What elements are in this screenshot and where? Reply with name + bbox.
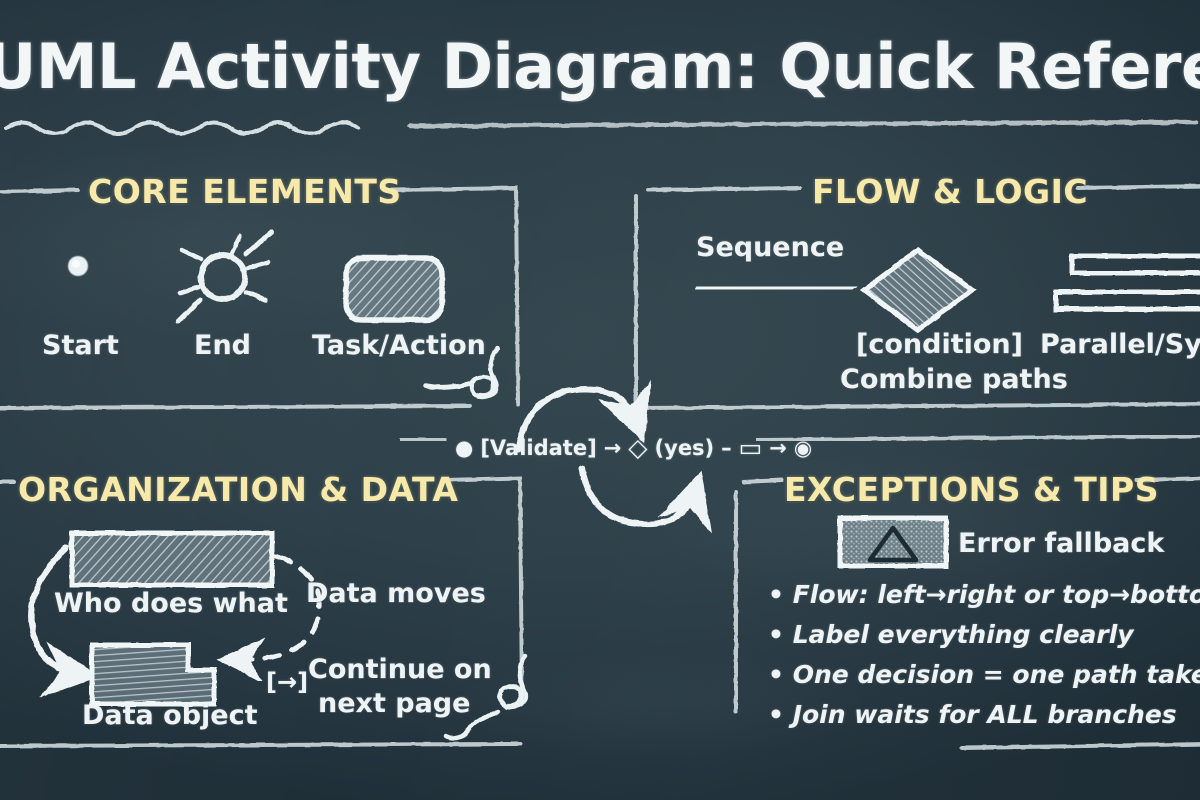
page-title: UML Activity Diagram: Quick Reference Gu… (0, 30, 1200, 103)
tip-text-3: One decision = one path taken (793, 660, 1200, 689)
mini-connector-icon: – (721, 436, 732, 460)
bullet-icon: • (768, 620, 784, 649)
mini-action-icon: ▭ (739, 433, 763, 462)
text-layer: UML Activity Diagram: Quick Reference Gu… (0, 0, 1200, 800)
label-error-fallback: Error fallback (958, 528, 1164, 559)
label-parallel-sync: Parallel/Sync (1040, 329, 1200, 360)
mini-arrow-2-icon: → (769, 436, 787, 460)
mini-guard-label: [Validate] (480, 436, 596, 460)
label-condition: [condition] (856, 329, 1023, 360)
mini-arrow-1-icon: → (604, 436, 622, 460)
label-data-moves: Data moves (306, 578, 486, 609)
mini-decision-icon: ◇ (628, 433, 647, 462)
connector-symbol: [→] (266, 668, 308, 696)
bullet-icon: • (768, 700, 784, 729)
label-start: Start (42, 330, 119, 361)
panel-heading-organization-data: ORGANIZATION & DATA (18, 470, 458, 509)
tip-item-4: • Join waits for ALL branches (768, 700, 1177, 729)
panel-heading-core-elements: CORE ELEMENTS (88, 172, 402, 211)
label-end: End (194, 330, 251, 361)
label-combine-paths: Combine paths (840, 364, 1068, 395)
tip-text-2: Label everything clearly (793, 620, 1134, 649)
mini-start-node-icon: ● (455, 436, 473, 460)
panel-heading-exceptions-tips: EXCEPTIONS & TIPS (784, 470, 1159, 509)
label-continue-line1: Continue on (308, 654, 492, 685)
label-who-does-what: Who does what (54, 588, 288, 619)
tip-item-3: • One decision = one path taken (768, 660, 1200, 689)
label-sequence: Sequence (696, 232, 844, 263)
tip-text-4: Join waits for ALL branches (793, 700, 1177, 729)
label-data-object: Data object (82, 700, 258, 731)
bullet-icon: • (768, 660, 784, 689)
tip-item-1: • Flow: left→right or top→bottom (768, 580, 1200, 609)
center-mini-flow: ● [Validate] → ◇ (yes) – ▭ → ◉ (455, 433, 812, 462)
tip-item-2: • Label everything clearly (768, 620, 1134, 649)
label-continue-line2: next page (318, 688, 470, 719)
bullet-icon: • (768, 580, 784, 609)
panel-heading-flow-logic: FLOW & LOGIC (812, 172, 1088, 211)
label-task-action: Task/Action (312, 330, 486, 361)
mini-end-node-icon: ◉ (794, 436, 812, 460)
tip-text-1: Flow: left→right or top→bottom (793, 580, 1200, 609)
mini-branch-label: (yes) (655, 436, 715, 460)
